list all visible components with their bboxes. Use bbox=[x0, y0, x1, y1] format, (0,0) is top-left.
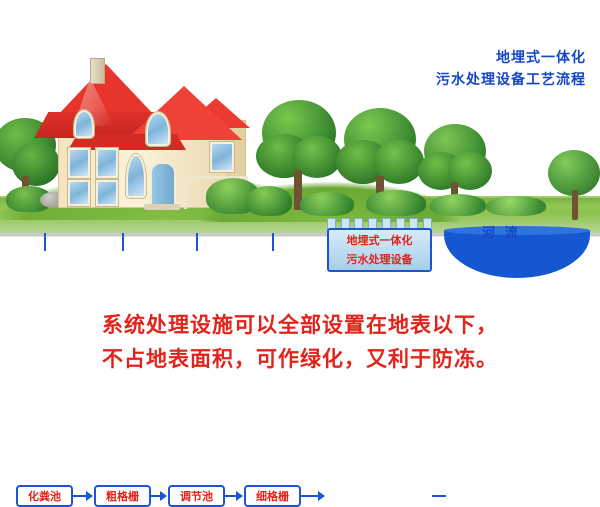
tree-far-right bbox=[548, 150, 600, 220]
window-left-1 bbox=[68, 148, 90, 178]
diagram-canvas: 地埋式一体化 污水处理设备工艺流程 化粪池 粗格栅 调节池 细格栅 bbox=[0, 0, 600, 400]
window-left-2 bbox=[96, 148, 118, 178]
riser-2 bbox=[122, 233, 124, 251]
hedge-3 bbox=[300, 192, 354, 216]
diagram-title-line2: 污水处理设备工艺流程 bbox=[436, 68, 586, 90]
hedge-2 bbox=[246, 186, 292, 216]
window-attic bbox=[74, 110, 94, 138]
main-unit-line2: 污水处理设备 bbox=[329, 251, 430, 270]
diagram-title: 地埋式一体化 污水处理设备工艺流程 bbox=[436, 46, 586, 90]
window-wing bbox=[210, 142, 234, 172]
hedge-5 bbox=[430, 194, 486, 216]
diagram-title-line1: 地埋式一体化 bbox=[436, 46, 586, 68]
flow-node-4[interactable]: 细格栅 bbox=[244, 485, 301, 507]
hedge-4 bbox=[366, 190, 426, 216]
flow-node-3[interactable]: 调节池 bbox=[168, 485, 225, 507]
main-treatment-unit[interactable]: 地埋式一体化 污水处理设备 bbox=[327, 228, 432, 272]
caption-line1: 系统处理设施可以全部设置在地表以下， bbox=[0, 308, 600, 342]
bottom-caption: 系统处理设施可以全部设置在地表以下， 不占地表面积，可作绿化，又利于防冻。 bbox=[0, 308, 600, 376]
window-left-3 bbox=[68, 180, 90, 206]
river-illustration: 河 流 bbox=[444, 222, 590, 278]
connector-4-unit bbox=[301, 495, 319, 497]
arrow-2-3 bbox=[160, 491, 167, 501]
chimney bbox=[90, 58, 105, 84]
riser-3 bbox=[196, 233, 198, 251]
flow-node-1[interactable]: 化粪池 bbox=[16, 485, 73, 507]
main-unit-line1: 地埋式一体化 bbox=[329, 232, 430, 251]
window-left-4 bbox=[96, 180, 118, 206]
riser-4 bbox=[272, 233, 274, 251]
hedge-6 bbox=[486, 196, 546, 216]
arrow-3-4 bbox=[236, 491, 243, 501]
front-door bbox=[150, 162, 176, 210]
window-gable bbox=[146, 112, 170, 146]
connector-1-2 bbox=[73, 495, 87, 497]
caption-line2: 不占地表面积，可作绿化，又利于防冻。 bbox=[0, 342, 600, 376]
river-label: 河 流 bbox=[482, 222, 521, 241]
window-center bbox=[126, 154, 146, 198]
riser-1 bbox=[44, 233, 46, 251]
roof-gable bbox=[126, 86, 242, 140]
flow-node-2[interactable]: 粗格栅 bbox=[94, 485, 151, 507]
connector-unit-river bbox=[432, 495, 446, 497]
arrow-1-2 bbox=[86, 491, 93, 501]
scene-illustration: 地埋式一体化 污水处理设备工艺流程 bbox=[0, 0, 600, 236]
front-step bbox=[144, 204, 180, 210]
arrow-4-unit bbox=[318, 491, 325, 501]
